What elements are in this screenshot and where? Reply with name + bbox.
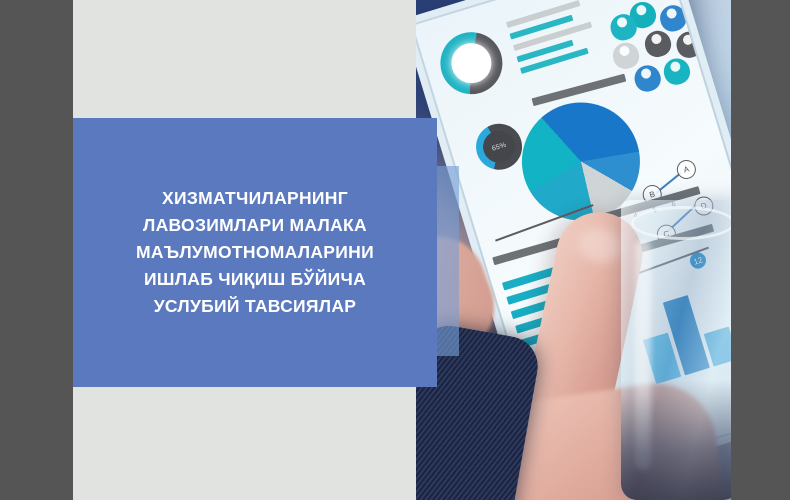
bar-item [506, 0, 580, 28]
person-icon [631, 62, 663, 94]
person-icon [657, 2, 689, 34]
donut-chart-top [433, 24, 510, 101]
bar-item [520, 48, 589, 74]
title-block: ХИЗМАТЧИЛАРНИНГ ЛАВОЗИМЛАРИ МАЛАКА МАЪЛУ… [73, 118, 437, 387]
horizontal-bar-list-top [506, 0, 611, 91]
cover-title: ХИЗМАТЧИЛАРНИНГ ЛАВОЗИМЛАРИ МАЛАКА МАЪЛУ… [122, 185, 388, 321]
donut-chart-percent-hole: 65% [479, 127, 519, 167]
frame-band-right [731, 0, 790, 500]
person-icon [610, 39, 642, 71]
title-line-4: ИШЛАБ ЧИҚИШ БЎЙИЧА [136, 266, 374, 293]
bar-item [513, 22, 592, 51]
divider-bar [532, 74, 627, 107]
water-glass-shadow [621, 380, 731, 500]
donut-percent-label: 65% [491, 141, 507, 152]
person-icon [661, 55, 693, 87]
cover-photo: 65% [416, 0, 731, 500]
person-icon-center [642, 28, 674, 60]
title-line-3: МАЪЛУМОТНОМАЛАРИНИ [136, 239, 374, 266]
node-link [656, 172, 682, 193]
title-line-5: УСЛУБИЙ ТАВСИЯЛАР [136, 293, 374, 320]
frame-band-left [0, 0, 73, 500]
bar-item [509, 15, 573, 40]
donut-chart-percent: 65% [470, 118, 527, 175]
person-icon [607, 11, 639, 43]
title-line-2: ЛАВОЗИМЛАРИ МАЛАКА [136, 212, 374, 239]
node-a: A [675, 158, 699, 182]
title-line-1: ХИЗМАТЧИЛАРНИНГ [136, 185, 374, 212]
person-icon [627, 0, 659, 31]
donut-chart-top-hole [446, 38, 496, 88]
accent-strip [437, 166, 459, 356]
bar-item [516, 40, 573, 63]
cover-stage: 65% [0, 0, 790, 500]
